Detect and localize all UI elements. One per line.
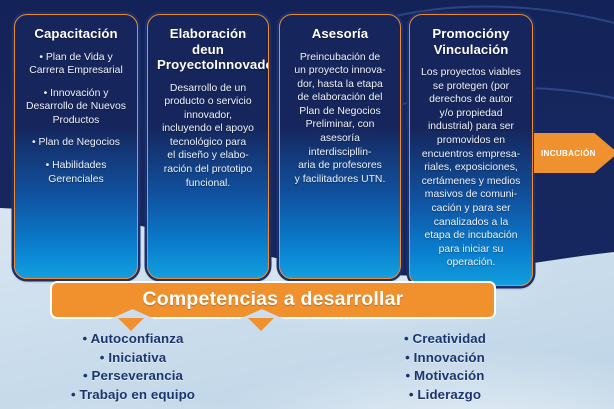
text-line: • Plan de Negocios: [24, 136, 128, 150]
text-line: canalizados a la: [419, 216, 523, 230]
text-line: tecnológico para: [157, 136, 259, 150]
text-line: • Perseverancia: [83, 368, 183, 383]
text-line: • Creatividad: [404, 331, 486, 346]
card-body-elaboracion-proyecto: Desarrollo de unproducto o servicioinnov…: [157, 82, 259, 191]
card-title-promocion-vinculacion: Promocióny Vinculación: [419, 26, 523, 57]
text-line: • Liderazgo: [409, 387, 481, 402]
text-line: promovidos en: [419, 134, 523, 148]
text-line: riales, exposiciones,: [419, 161, 523, 175]
competencias-banner-title: Competencias a desarrollar: [50, 281, 496, 319]
text-line: Preincubación de: [289, 51, 391, 65]
card-title-asesoria: Asesoría: [289, 26, 391, 42]
bullet-item: • Perseverancia: [28, 367, 238, 386]
text-line: funcional.: [157, 177, 259, 191]
card-title-capacitacion: Capacitación: [24, 26, 128, 42]
competencias-list-right: • Creatividad• Innovación• Motivación• L…: [340, 330, 550, 404]
banner-pointer-notch-right: [248, 318, 274, 331]
card-list-capacitacion: • Plan de Vida yCarrera Empresarial• Inn…: [24, 51, 128, 187]
text-line: Los proyectos viables: [419, 66, 523, 80]
text-line: dor, hasta la etapa: [289, 78, 391, 92]
text-line: encuentros empresa-: [419, 148, 523, 162]
text-line: industrial) para ser: [419, 120, 523, 134]
text-line: Productos: [24, 114, 128, 128]
text-line: de elaboración del: [289, 91, 391, 105]
list-item: • Innovación yDesarrollo de NuevosProduc…: [24, 87, 128, 128]
bullet-item: • Creatividad: [340, 330, 550, 349]
card-asesoria[interactable]: Asesoría Preincubación deun proyecto inn…: [279, 14, 401, 279]
text-line: Desarrollo de Nuevos: [24, 100, 128, 114]
text-line: Gerenciales: [24, 173, 128, 187]
text-line: Preliminar, con: [289, 118, 391, 132]
text-line: para iniciar su: [419, 243, 523, 257]
card-body-asesoria: Preincubación deun proyecto innova-dor, …: [289, 51, 391, 187]
text-line: • Innovación y: [24, 87, 128, 101]
text-line: • Trabajo en equipo: [71, 387, 195, 402]
text-line: un proyecto innova-: [289, 64, 391, 78]
card-title-elaboracion-proyecto: Elaboración deun ProyectoInnovador: [157, 26, 259, 73]
text-line: Asesoría: [312, 26, 369, 41]
text-line: operación.: [419, 256, 523, 270]
list-item: • Plan de Negocios: [24, 136, 128, 150]
text-line: aria de profesores: [289, 159, 391, 173]
card-capacitacion[interactable]: Capacitación • Plan de Vida yCarrera Emp…: [14, 14, 138, 279]
list-item: • HabilidadesGerenciales: [24, 159, 128, 186]
bullet-item: • Trabajo en equipo: [28, 386, 238, 405]
text-line: • Innovación: [405, 350, 485, 365]
bullet-item: • Liderazgo: [340, 386, 550, 405]
competencias-list-left: • Autoconfianza• Iniciativa• Perseveranc…: [28, 330, 238, 404]
text-line: Desarrollo de un: [157, 82, 259, 96]
text-line: • Habilidades: [24, 159, 128, 173]
text-line: Capacitación: [34, 26, 117, 41]
text-line: • Motivación: [406, 368, 485, 383]
text-line: innovador,: [157, 109, 259, 123]
infographic-canvas: Capacitación • Plan de Vida yCarrera Emp…: [0, 0, 614, 409]
list-item: • Plan de Vida yCarrera Empresarial: [24, 51, 128, 78]
text-line: producto o servicio: [157, 95, 259, 109]
card-promocion-vinculacion[interactable]: Promocióny Vinculación Los proyectos via…: [409, 14, 533, 286]
card-body-promocion-vinculacion: Los proyectos viablesse protegen (porder…: [419, 66, 523, 270]
text-line: • Plan de Vida y: [24, 51, 128, 65]
card-elaboracion-proyecto[interactable]: Elaboración deun ProyectoInnovador Desar…: [147, 14, 269, 279]
text-line: • Iniciativa: [100, 350, 166, 365]
text-line: Innovador: [214, 57, 269, 72]
text-line: y/o propiedad: [419, 107, 523, 121]
text-line: certámenes y medios: [419, 175, 523, 189]
text-line: Carrera Empresarial: [24, 64, 128, 78]
text-line: Plan de Negocios: [289, 105, 391, 119]
bullet-item: • Autoconfianza: [28, 330, 238, 349]
text-line: etapa de incubación: [419, 229, 523, 243]
text-line: asesoría interdiscipllin-: [289, 132, 391, 159]
text-line: derechos de autor: [419, 93, 523, 107]
text-line: Promoción: [432, 26, 502, 41]
text-line: el diseño y elabo-: [157, 149, 259, 163]
bullet-item: • Motivación: [340, 367, 550, 386]
text-line: y facilitadores UTN.: [289, 173, 391, 187]
competencias-banner: Competencias a desarrollar: [50, 281, 496, 319]
bullet-item: • Iniciativa: [28, 349, 238, 368]
text-line: cación y para ser: [419, 202, 523, 216]
text-line: ración del prototipo: [157, 163, 259, 177]
text-line: masivos de comuni-: [419, 188, 523, 202]
incubacion-arrow-label: INCUBACIÓN: [541, 149, 596, 158]
text-line: • Autoconfianza: [83, 331, 184, 346]
text-line: se protegen (por: [419, 80, 523, 94]
bullet-item: • Innovación: [340, 349, 550, 368]
text-line: incluyendo el apoyo: [157, 122, 259, 136]
